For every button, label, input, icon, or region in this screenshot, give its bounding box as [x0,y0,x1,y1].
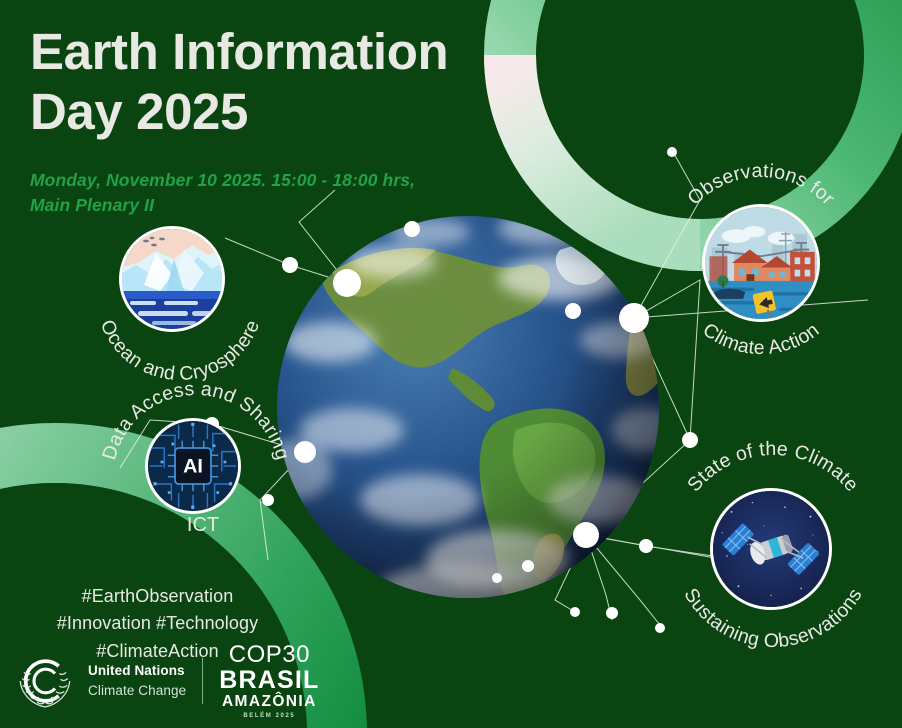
cop-line-2: BRASIL [219,668,319,693]
hashtag-line-2: #Innovation #Technology [30,610,285,637]
event-datetime: Monday, November 10 2025. 15:00 - 18:00 … [30,168,510,218]
cop-line-1: COP30 [219,643,319,667]
cop-line-3: AMAZÔNIA [219,694,319,710]
title-line-1: Earth Information [30,22,550,82]
badge-label-top: Observations for [683,160,839,210]
badge-label-top: Data Access and Sharing [98,378,294,463]
un-line-1: United Nations [88,661,186,681]
un-line-2: Climate Change [88,681,186,701]
badge-ocean-cryosphere-label: Ocean and Cryosphere [92,212,307,397]
page-title: Earth Information Day 2025 [30,22,550,142]
title-line-2: Day 2025 [30,82,550,142]
unfccc-wordmark: United Nations Climate Change [88,661,186,700]
earth-globe [260,210,682,616]
cop-line-4: BELÉM 2025 [219,713,319,719]
badge-state-climate-labels: State of the Climate Sustaining Observat… [668,448,878,638]
unfccc-logo [14,650,76,712]
logo-divider [202,658,203,704]
cop30-logo: COP30 BRASIL AMAZÔNIA BELÉM 2025 [219,643,319,719]
badge-data-access-sharing[interactable]: AI Data Access and Sharing ICT [108,378,298,543]
badge-state-of-climate[interactable]: State of the Climate Sustaining Observat… [668,448,878,638]
badge-obs-top-text: Observations for [683,160,839,210]
poster-canvas: Earth Information Day 2025 Monday, Novem… [0,0,902,728]
badge-ocean-cryosphere[interactable]: Ocean and Cryosphere [92,212,307,397]
badge-observations-labels: Observations for Climate Action [662,166,862,341]
badge-observations-climate-action[interactable]: Observations for Climate Action [662,166,862,341]
badge-ocean-bottom-text: Ocean and Cryosphere [96,316,265,385]
badge-data-bottom-text: ICT [108,514,298,537]
subtitle-line-1: Monday, November 10 2025. 15:00 - 18:00 … [30,168,510,193]
footer-logos: United Nations Climate Change COP30 BRAS… [14,648,319,714]
badge-data-top-text: Data Access and Sharing [98,378,294,463]
hashtag-line-1: #EarthObservation [30,583,285,610]
badge-label-bottom: Ocean and Cryosphere [96,316,265,385]
